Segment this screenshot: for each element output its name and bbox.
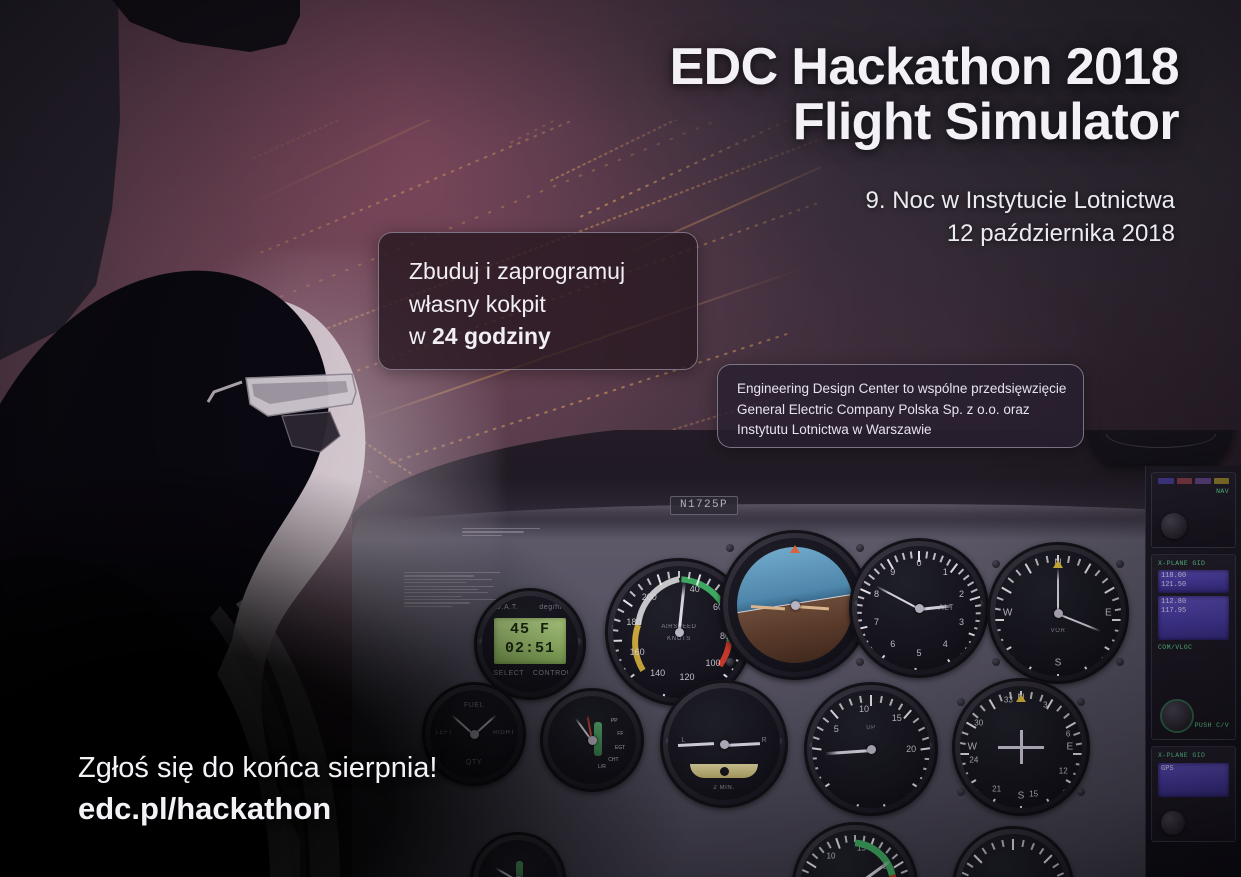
dial-number: 20: [906, 744, 916, 754]
dial-number: 10: [859, 704, 869, 714]
dial-tick: [920, 777, 927, 781]
dial-tick: [946, 559, 951, 566]
dial-tick: [918, 727, 925, 732]
dial-tick: [962, 872, 969, 876]
dial-tick: [1063, 789, 1069, 795]
vsi-dial: 5101520 UP: [812, 690, 930, 808]
gps-unit-1-lcd: 118.00 121.50: [1158, 570, 1229, 593]
dial-tick: [933, 553, 936, 560]
dial-tick: [859, 634, 866, 638]
dial-tick: [864, 581, 871, 586]
callout-line-2: własny kokpit: [409, 288, 697, 321]
callout-duration: 24 godziny: [432, 323, 551, 349]
radio-gps-nav-unit-1[interactable]: X-PLANE GID 118.00 121.50 112.80 117.95 …: [1151, 554, 1236, 740]
gps-unit-2-lcd: GPS: [1158, 763, 1229, 797]
dial-tick: [958, 569, 964, 575]
dial-tick: [1112, 639, 1119, 643]
dial-tick: [955, 658, 961, 664]
dial-tick: [976, 612, 981, 614]
turn-rate-caption: 2 MIN.: [713, 785, 734, 791]
dial-tick: [902, 799, 907, 806]
dial-tick: [1095, 570, 1101, 576]
dial-tick: [1035, 559, 1039, 566]
inclinometer-ball: [720, 767, 729, 776]
dial-tick: [1084, 666, 1091, 676]
dial-tick: [999, 695, 1003, 702]
dial-tick: [997, 639, 1004, 643]
bezel-screw: [957, 788, 965, 796]
com-vloc-knob[interactable]: [1162, 701, 1192, 731]
dial-tick: [830, 709, 839, 719]
dial-number: 0: [916, 558, 921, 568]
dial-tick: [1008, 578, 1014, 584]
dial-tick: [999, 806, 1003, 808]
transponder-button[interactable]: [1195, 478, 1211, 484]
dial-tick: [960, 753, 969, 755]
dial-tick: [1046, 799, 1053, 808]
dial-tick: [974, 854, 983, 863]
dial-tick: [989, 799, 996, 808]
dial-number: S: [1055, 658, 1062, 669]
dial-tick: [1102, 578, 1108, 584]
dial-tick: [997, 597, 1004, 601]
radio-transponder[interactable]: NAV: [1151, 472, 1236, 548]
dial-tick: [813, 737, 820, 741]
gps-unit-2-knob[interactable]: [1161, 811, 1185, 835]
infobox-line-3: Instytutu Lotnictwa w Warszawie: [737, 420, 1083, 441]
dial-tick: [1112, 619, 1121, 621]
turn-right-mark: R: [761, 737, 767, 744]
bezel-screw: [1077, 698, 1085, 706]
instrument-altimeter: 0123456789 ALT: [849, 538, 989, 678]
heading-bug: [1016, 694, 1026, 702]
dial-tick: [883, 804, 888, 808]
instrument-vertical-speed: 5101520 UP: [804, 682, 938, 816]
callout-line-1: Zbuduj i zaprogramuj: [409, 255, 697, 288]
com-standby-frequency: 121.50: [1161, 581, 1226, 590]
dial-tick: [1039, 806, 1043, 808]
dial-tick: [1046, 556, 1049, 563]
dial-number: 12: [1059, 767, 1068, 776]
dial-tick: [989, 699, 996, 710]
bezel-screw: [992, 560, 1000, 568]
dial-tick: [1056, 705, 1062, 711]
dial-tick: [982, 848, 987, 855]
subtitle-line-1: 9. Noc w Instytucie Lotnictwa: [866, 185, 1175, 218]
gps-unit-1-name: X-PLANE GID: [1158, 560, 1229, 567]
dial-tick: [893, 804, 897, 808]
dial-tick: [880, 563, 885, 570]
poster-root: 6 3 N1725P O.A.T. deg/hrs 45 F 02:51: [0, 0, 1241, 877]
title-line-1: EDC Hackathon 2018: [670, 40, 1179, 95]
pilot-silhouette: [0, 0, 660, 877]
dial-tick: [962, 732, 969, 736]
dial-tick: [817, 727, 824, 732]
dial-tick: [995, 629, 1001, 632]
dial-tick: [950, 563, 958, 573]
dial-tick: [891, 666, 895, 670]
dial-tick: [871, 653, 877, 659]
dial-tick: [970, 596, 981, 601]
dial-number: 100: [706, 658, 721, 668]
dial-tick: [1084, 563, 1091, 574]
dial-tick: [812, 747, 822, 750]
dial-tick: [1105, 646, 1116, 653]
dial-tick: [966, 779, 977, 786]
dial-tick: [921, 747, 930, 750]
dial-tick: [1102, 657, 1108, 663]
dial-tick: [688, 572, 691, 579]
dial-tick: [903, 709, 912, 719]
vor-cdi-needle: [1057, 568, 1059, 614]
com-active-frequency: 118.00: [1161, 572, 1226, 581]
dial-tick: [1056, 796, 1062, 802]
dial-tick: [870, 695, 872, 706]
dial-tick: [967, 581, 974, 586]
dial-number: S: [1018, 790, 1025, 801]
dial-tick: [922, 737, 929, 741]
dial-tick: [980, 705, 986, 711]
dial-tick: [960, 763, 966, 766]
needle-hub: [867, 745, 876, 754]
dial-number: 5: [834, 724, 839, 734]
page-title: EDC Hackathon 2018 Flight Simulator: [670, 40, 1179, 150]
call-to-action: Zgłoś się do końca sierpnia! edc.pl/hack…: [78, 751, 437, 828]
dial-tick: [707, 578, 712, 585]
attitude-dial: [728, 538, 862, 672]
dial-tick: [1001, 587, 1012, 594]
bezel-screw: [1116, 560, 1124, 568]
title-line-2: Flight Simulator: [670, 95, 1179, 150]
dial-tick: [820, 783, 830, 791]
dial-tick: [1001, 646, 1012, 653]
tachometer-ticks: [963, 837, 1063, 877]
dial-tick: [971, 588, 978, 592]
bezel-screw: [726, 544, 734, 552]
transponder-button[interactable]: [1158, 478, 1174, 484]
dial-tick: [914, 668, 917, 670]
dial-tick: [926, 551, 928, 558]
dial-tick: [1076, 742, 1082, 745]
dial-tick: [909, 793, 915, 799]
edc-description-box: Engineering Design Center to wspólne prz…: [717, 364, 1084, 448]
dial-tick: [1057, 674, 1059, 676]
dial-number: W: [967, 742, 976, 753]
dial-number: 4: [943, 639, 948, 649]
dial-tick: [1077, 674, 1081, 676]
radio-gps-nav-unit-2[interactable]: X-PLANE GID GPS: [1151, 746, 1236, 842]
dial-tick: [1052, 863, 1059, 868]
turn-wing-left: [678, 742, 714, 747]
dial-tick: [1035, 674, 1039, 676]
dial-number: 2: [959, 589, 964, 599]
dial-number: 21: [992, 785, 1001, 794]
dial-tick: [866, 647, 873, 652]
dial-tick: [1105, 587, 1116, 594]
needle-hub: [915, 604, 924, 613]
manifold-green-arc: [806, 836, 904, 877]
heading-dial: NESW 36121521243033: [960, 686, 1082, 808]
dial-tick: [1076, 763, 1082, 766]
callout-prefix: w: [409, 323, 432, 349]
dial-tick: [960, 742, 966, 745]
dial-tick: [880, 696, 883, 703]
dial-tick: [894, 555, 898, 562]
dial-tick: [857, 620, 862, 622]
dial-tick: [995, 608, 1001, 611]
dial-number: 24: [969, 755, 978, 764]
bezel-screw: [856, 658, 864, 666]
attitude-center-dot: [791, 601, 800, 610]
nav-annunciator: NAV: [1158, 488, 1229, 495]
bezel-screw: [726, 658, 734, 666]
needle-hub: [675, 628, 684, 637]
altimeter-dial: 0123456789 ALT: [857, 546, 981, 670]
dial-tick: [1063, 713, 1069, 719]
dial-tick: [874, 569, 880, 575]
dial-tick: [860, 588, 871, 594]
transponder-button[interactable]: [1177, 478, 1193, 484]
dial-tick: [854, 804, 859, 808]
callout-line-3: w 24 godziny: [409, 320, 697, 353]
compass-bottom-arc: [1106, 434, 1216, 448]
transponder-button-row[interactable]: [1158, 478, 1229, 484]
manifold-arc-svg: [806, 836, 904, 877]
dial-tick: [902, 553, 905, 560]
bezel-screw: [1077, 788, 1085, 796]
dial-tick: [1073, 772, 1080, 776]
dial-number: W: [1003, 608, 1012, 619]
dial-number: 120: [680, 672, 695, 682]
dial-number: 3: [1043, 700, 1047, 709]
dial-number: 30: [974, 718, 983, 727]
dial-tick: [1073, 732, 1080, 736]
vor-dial: NESW VOR: [995, 550, 1121, 676]
turn-wing-right: [724, 742, 760, 747]
dial-number: 6: [1066, 730, 1070, 739]
silhouette-svg: [0, 0, 660, 877]
dial-tick: [812, 758, 817, 760]
dial-tick: [844, 804, 848, 808]
dial-tick: [918, 551, 920, 558]
dial-tick: [857, 596, 864, 599]
transponder-button[interactable]: [1214, 478, 1230, 484]
dial-tick: [991, 843, 995, 850]
avionics-radio-stack: NAV X-PLANE GID 118.00 121.50 112.80 117…: [1145, 466, 1241, 877]
dial-tick: [1095, 664, 1101, 670]
magnetic-compass: 6 3: [1088, 430, 1234, 464]
dial-tick: [969, 641, 976, 646]
dial-number: 1: [943, 567, 948, 577]
nav-standby-frequency: 117.95: [1161, 607, 1226, 616]
dial-number: 15: [892, 713, 902, 723]
dial-tick: [910, 551, 912, 558]
dial-tick: [1030, 692, 1033, 699]
dial-number: 6: [890, 639, 895, 649]
dial-tick: [1002, 840, 1005, 847]
dial-number: 3: [959, 617, 964, 627]
bezel-screw: [1116, 658, 1124, 666]
vor-top-index: [1053, 560, 1063, 568]
dial-tick: [1008, 657, 1014, 663]
instrument-heading-indicator: NESW 36121521243033: [952, 678, 1090, 816]
dial-tick: [839, 703, 844, 710]
dial-tick: [1044, 854, 1053, 863]
subtitle-line-2: 12 października 2018: [866, 218, 1175, 251]
instrument-attitude-indicator: [720, 530, 870, 680]
dial-tick: [859, 696, 862, 703]
dial-tick: [963, 575, 969, 581]
dial-tick: [925, 758, 930, 760]
dial-tick: [1039, 848, 1044, 855]
bezel-screw: [957, 698, 965, 706]
dial-tick: [913, 717, 919, 723]
airspeed-unit: KNOTS: [667, 636, 691, 642]
dial-number: 15: [1029, 790, 1038, 799]
dial-tick: [967, 863, 974, 868]
dial-tick: [1022, 840, 1025, 847]
dial-tick: [972, 789, 978, 795]
dial-tick: [1031, 843, 1035, 850]
gps-label: GPS: [1161, 765, 1226, 774]
dial-tick: [1067, 556, 1070, 563]
dial-tick: [943, 666, 947, 670]
cap-shape: [112, 0, 300, 52]
dial-tick: [1115, 608, 1121, 611]
turn-coordinator-dial: L R 2 MIN.: [668, 688, 780, 800]
vor-label: VOR: [1051, 628, 1066, 634]
dial-tick: [1115, 629, 1121, 632]
dial-tick: [1066, 779, 1077, 786]
dial-tick: [1016, 664, 1022, 670]
dial-tick: [947, 659, 955, 669]
dial-tick: [975, 604, 981, 607]
com-vloc-label: COM/VLOC: [1158, 644, 1229, 651]
dial-tick: [962, 772, 969, 776]
dial-number: 7: [874, 617, 879, 627]
dial-tick: [995, 619, 1004, 621]
needle-hub: [720, 740, 729, 749]
dial-tick: [969, 632, 980, 638]
vsi-unit: UP: [866, 725, 876, 731]
bezel-screw: [992, 658, 1000, 666]
dial-tick: [823, 717, 829, 723]
dial-tick: [857, 626, 868, 630]
dial-number: 8: [874, 589, 879, 599]
dial-tick: [835, 799, 840, 806]
gps-unit-1-map: 112.80 117.95: [1158, 596, 1229, 640]
challenge-callout-box: Zbuduj i zaprogramuj własny kokpit w 24 …: [378, 232, 698, 370]
dial-tick: [1016, 570, 1022, 576]
dial-tick: [1020, 806, 1022, 808]
dial-tick: [1073, 753, 1082, 755]
instrument-turn-coordinator: L R 2 MIN.: [660, 680, 788, 808]
registration-url[interactable]: edc.pl/hackathon: [78, 789, 437, 829]
dial-tick: [961, 653, 967, 659]
dial-tick: [667, 572, 670, 579]
dial-tick: [849, 699, 853, 706]
push-cv-label: PUSH C/V: [1195, 722, 1229, 729]
dial-number: 33: [1004, 695, 1013, 704]
dial-tick: [923, 768, 930, 771]
dial-tick: [678, 571, 680, 578]
dial-tick: [889, 699, 893, 706]
deadline-text: Zgłoś się do końca sierpnia!: [78, 751, 437, 786]
dial-tick: [1012, 839, 1014, 850]
dial-number: 5: [916, 648, 921, 658]
heading-aircraft-symbol-body: [1020, 730, 1023, 764]
dial-tick: [661, 694, 666, 698]
bezel-screw: [856, 544, 864, 552]
tachometer-dial: [960, 834, 1066, 877]
dial-tick: [1025, 563, 1032, 574]
dial-tick: [812, 768, 819, 771]
dial-tick: [1112, 597, 1119, 601]
dial-tick: [827, 793, 833, 799]
dial-tick: [857, 612, 862, 614]
aircraft-registration-plate: N1725P: [670, 496, 738, 515]
dial-tick: [1077, 559, 1081, 566]
infobox-line-2: General Electric Company Polska Sp. z o.…: [737, 400, 1083, 421]
transponder-knob[interactable]: [1161, 513, 1187, 539]
dial-tick: [815, 777, 822, 781]
dial-tick: [868, 575, 874, 581]
dial-number: 9: [890, 567, 895, 577]
event-subtitle: 9. Noc w Instytucie Lotnictwa 12 paździe…: [866, 185, 1175, 250]
attitude-bank-pointer: [790, 545, 800, 553]
dial-tick: [980, 796, 986, 802]
dial-tick: [898, 669, 902, 670]
dial-tick: [936, 669, 940, 670]
dial-tick: [877, 655, 886, 665]
dial-tick: [715, 584, 720, 591]
dial-tick: [974, 627, 981, 630]
dial-tick: [883, 662, 888, 669]
dial-tick: [1066, 722, 1077, 729]
dial-tick: [912, 783, 922, 791]
dial-number: E: [1105, 608, 1112, 619]
dial-number: E: [1066, 742, 1073, 753]
nav-active-frequency: 112.80: [1161, 598, 1226, 607]
instrument-vor-indicator: NESW VOR: [987, 542, 1129, 684]
dial-number: 40: [690, 584, 700, 594]
dial-tick: [857, 604, 863, 607]
dial-tick: [1025, 666, 1032, 676]
manifold-dial: 5101520: [800, 830, 910, 877]
gps-unit-2-name: X-PLANE GID: [1158, 752, 1229, 759]
dial-tick: [976, 620, 981, 622]
dial-tick: [965, 647, 972, 652]
infobox-line-1: Engineering Design Center to wspólne prz…: [737, 379, 1083, 400]
dial-tick: [898, 703, 903, 710]
dial-tick: [940, 555, 944, 562]
dial-tick: [1057, 872, 1064, 876]
needle-hub: [1054, 609, 1063, 618]
dial-tick: [862, 641, 869, 646]
